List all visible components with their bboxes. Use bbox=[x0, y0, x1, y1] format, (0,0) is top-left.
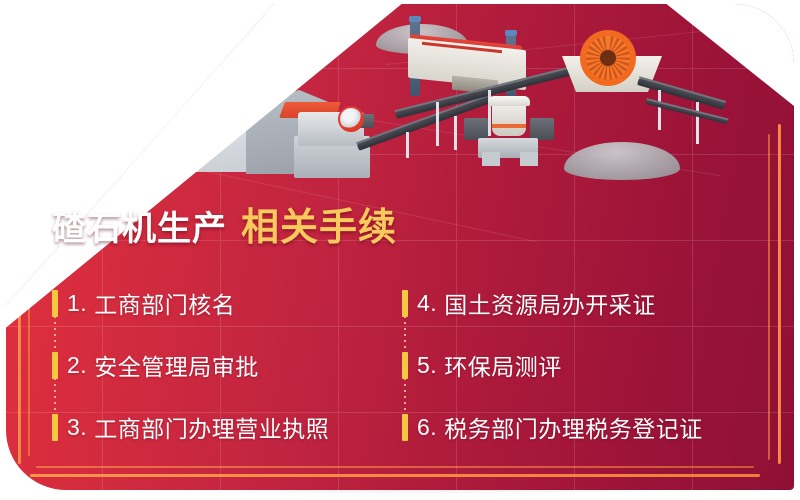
item-label: 国土资源局办开采证 bbox=[444, 286, 656, 320]
conveyor-leg bbox=[406, 132, 409, 158]
procedure-lists: 1. 工商部门核名 2. 安全管理局审批 3. 工商部门办理营业执照 4. 国土… bbox=[52, 272, 752, 458]
item-marker-bar bbox=[52, 290, 58, 317]
list-item[interactable]: 2. 安全管理局审批 bbox=[52, 334, 402, 396]
item-number: 4. bbox=[417, 290, 437, 317]
list-item[interactable]: 1. 工商部门核名 bbox=[52, 272, 402, 334]
banner-root: 碴石机生产 相关手续 1. 工商部门核名 2. 安全管理局审批 3. 工商部门办… bbox=[0, 0, 800, 500]
item-label: 安全管理局审批 bbox=[94, 348, 259, 382]
title-primary: 碴石机生产 bbox=[52, 201, 227, 250]
item-number: 6. bbox=[417, 414, 437, 441]
screen-column-cap bbox=[409, 16, 421, 22]
item-number: 5. bbox=[417, 352, 437, 379]
vsi-crusher-icon bbox=[472, 94, 550, 160]
item-marker-bar bbox=[402, 290, 408, 317]
gravel-pile-icon bbox=[564, 142, 680, 180]
production-line-illustration bbox=[6, 4, 794, 194]
list-item[interactable]: 5. 环保局测评 bbox=[402, 334, 752, 396]
list-item[interactable]: 4. 国土资源局办开采证 bbox=[402, 272, 752, 334]
item-label: 工商部门办理营业执照 bbox=[94, 410, 329, 444]
conveyor-leg bbox=[436, 102, 439, 146]
item-label: 税务部门办理税务登记证 bbox=[444, 410, 703, 444]
item-marker-bar bbox=[402, 414, 408, 441]
procedure-column-right: 4. 国土资源局办开采证 5. 环保局测评 6. 税务部门办理税务登记证 bbox=[402, 272, 752, 458]
item-marker-bar bbox=[52, 352, 58, 379]
item-label: 环保局测评 bbox=[444, 348, 562, 382]
item-marker-bar bbox=[52, 414, 58, 441]
conveyor-leg bbox=[454, 116, 457, 150]
item-number: 3. bbox=[67, 414, 87, 441]
item-number: 1. bbox=[67, 290, 87, 317]
item-number: 2. bbox=[67, 352, 87, 379]
conveyor-leg bbox=[696, 102, 699, 144]
conveyor-leg bbox=[658, 90, 661, 130]
title-highlight: 相关手续 bbox=[241, 196, 397, 251]
banner-title: 碴石机生产 相关手续 bbox=[52, 196, 397, 251]
item-marker-bar bbox=[402, 352, 408, 379]
item-label: 工商部门核名 bbox=[94, 286, 235, 320]
procedure-column-left: 1. 工商部门核名 2. 安全管理局审批 3. 工商部门办理营业执照 bbox=[52, 272, 402, 458]
list-item[interactable]: 3. 工商部门办理营业执照 bbox=[52, 396, 402, 458]
list-item[interactable]: 6. 税务部门办理税务登记证 bbox=[402, 396, 752, 458]
